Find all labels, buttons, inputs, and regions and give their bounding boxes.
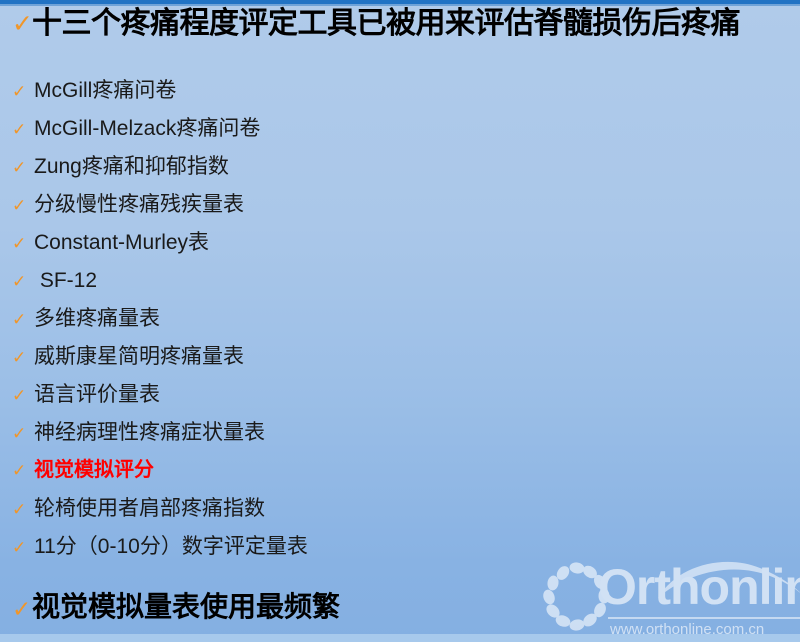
check-mark-icon: ✓ — [12, 235, 34, 252]
check-mark-icon: ✓ — [12, 425, 34, 442]
check-mark-icon: ✓ — [12, 598, 32, 621]
list-item: ✓轮椅使用者肩部疼痛指数 — [12, 497, 790, 535]
slide-conclusion: ✓ 视觉模拟量表使用最频繁 — [12, 592, 340, 634]
check-mark-icon: ✓ — [12, 311, 34, 328]
check-mark-icon: ✓ — [12, 349, 34, 366]
list-item: ✓11分（0-10分）数字评定量表 — [12, 535, 790, 573]
list-item: ✓分级慢性疼痛残疾量表 — [12, 193, 790, 231]
slide-title-text: 十三个疼痛程度评定工具已被用来评估脊髓损伤后疼痛 — [32, 8, 790, 40]
list-item-label: 11分（0-10分）数字评定量表 — [34, 535, 790, 558]
list-item-label: McGill疼痛问卷 — [34, 79, 790, 102]
list-item-label: Constant-Murley表 — [34, 231, 790, 254]
check-mark-icon: ✓ — [12, 539, 34, 556]
slide-canvas: ✓ 十三个疼痛程度评定工具已被用来评估脊髓损伤后疼痛 ✓McGill疼痛问卷✓M… — [0, 0, 800, 642]
pain-assessment-tool-list: ✓McGill疼痛问卷✓McGill-Melzack疼痛问卷✓Zung疼痛和抑郁… — [12, 79, 790, 573]
list-item-label: McGill-Melzack疼痛问卷 — [34, 117, 790, 140]
list-item-label: 威斯康星简明疼痛量表 — [34, 345, 790, 368]
list-item-label: SF-12 — [34, 269, 790, 292]
watermark-divider — [608, 617, 800, 619]
check-mark-icon: ✓ — [12, 12, 32, 37]
bottom-band — [0, 634, 800, 642]
list-item: ✓McGill-Melzack疼痛问卷 — [12, 117, 790, 155]
list-item: ✓Zung疼痛和抑郁指数 — [12, 155, 790, 193]
top-accent-rule-soft — [0, 4, 800, 6]
list-item: ✓视觉模拟评分 — [12, 459, 790, 497]
list-item-label: 轮椅使用者肩部疼痛指数 — [34, 497, 790, 520]
list-item: ✓神经病理性疼痛症状量表 — [12, 421, 790, 459]
check-mark-icon: ✓ — [12, 159, 34, 176]
list-item: ✓语言评价量表 — [12, 383, 790, 421]
list-item: ✓McGill疼痛问卷 — [12, 79, 790, 117]
check-mark-icon: ✓ — [12, 387, 34, 404]
check-mark-icon: ✓ — [12, 197, 34, 214]
check-mark-icon: ✓ — [12, 273, 34, 290]
list-item: ✓ SF-12 — [12, 269, 790, 307]
check-mark-icon: ✓ — [12, 83, 34, 100]
list-item: ✓Constant-Murley表 — [12, 231, 790, 269]
list-item-label: 语言评价量表 — [34, 383, 790, 406]
list-item-label: 神经病理性疼痛症状量表 — [34, 421, 790, 444]
slide-title: ✓ 十三个疼痛程度评定工具已被用来评估脊髓损伤后疼痛 — [12, 8, 790, 54]
list-item-label: 多维疼痛量表 — [34, 307, 790, 330]
check-mark-icon: ✓ — [12, 462, 34, 479]
list-item: ✓威斯康星简明疼痛量表 — [12, 345, 790, 383]
check-mark-icon: ✓ — [12, 121, 34, 138]
list-item: ✓多维疼痛量表 — [12, 307, 790, 345]
list-item-label: 分级慢性疼痛残疾量表 — [34, 193, 790, 216]
slide-conclusion-text: 视觉模拟量表使用最频繁 — [32, 592, 340, 623]
list-item-label: Zung疼痛和抑郁指数 — [34, 155, 790, 178]
check-mark-icon: ✓ — [12, 501, 34, 518]
list-item-label: 视觉模拟评分 — [34, 459, 790, 481]
